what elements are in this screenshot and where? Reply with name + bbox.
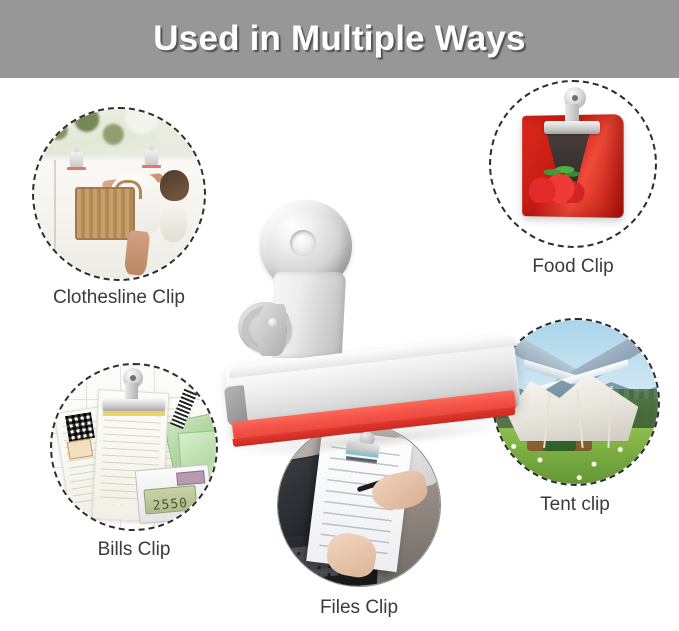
bills-clip-product [106,368,162,417]
page-title: Used in Multiple Ways [153,19,525,59]
calculator: 2550 [135,464,214,525]
calculator-display-value: 2550 [152,496,188,514]
child-figure [160,204,187,241]
clip-knob-hole [290,230,316,256]
clip-jaw [544,121,600,134]
clothesline-clip-icon-left [70,152,83,167]
bills-label: Bills Clip [50,539,218,561]
files-label: Files Clip [277,597,441,619]
calculator-solar-panel [177,470,206,485]
clothesline-label: Clothesline Clip [32,287,206,309]
clothesline-clip-icon-right [145,150,158,165]
bills-circle: 2550 [50,363,218,531]
food-clip-product [558,87,586,136]
clothesline-circle [32,107,206,281]
clip-hinge-tab [258,304,286,356]
feature-clothesline[interactable]: Clothesline Clip [32,107,206,323]
header-banner: Used in Multiple Ways [0,0,679,78]
wicker-basket [75,187,135,240]
infographic-canvas: Clothesline Clip Food Clip [0,78,679,621]
product-hero-image [228,200,518,490]
chips-graphic [527,190,602,223]
calculator-screen: 2550 [144,485,198,515]
clip-hinge-pin [268,318,277,327]
feature-bills[interactable]: 2550 Bills Clip [50,363,218,575]
woman-head [160,170,189,201]
clothesline-scene [34,109,204,279]
clip-grip-strip [103,411,165,416]
sheet-fold [54,160,56,272]
tent-label: Tent clip [492,494,658,516]
bills-scene: 2550 [52,365,216,529]
